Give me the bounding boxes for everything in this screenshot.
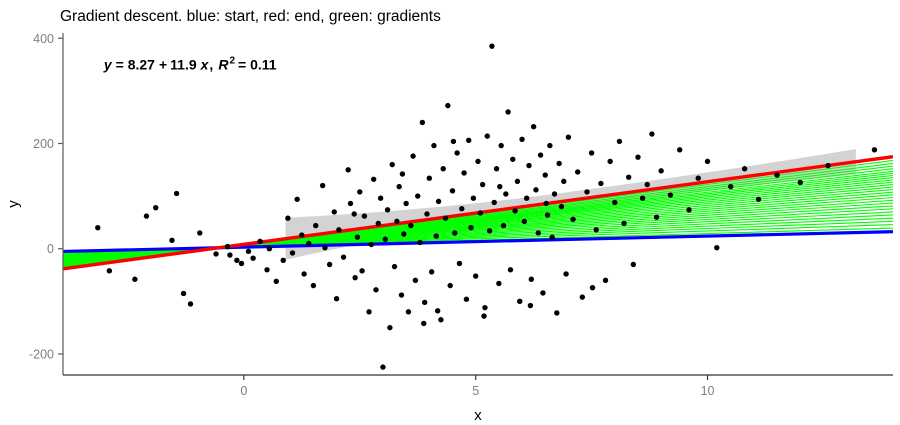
scatter-point: [239, 261, 244, 266]
scatter-point: [394, 219, 399, 224]
scatter-point: [169, 238, 174, 243]
x-tick-label: 0: [240, 384, 247, 398]
scatter-point: [531, 124, 536, 129]
scatter-point: [301, 271, 306, 276]
scatter-point: [554, 310, 559, 315]
scatter-point: [406, 309, 411, 314]
panel-content: [63, 43, 893, 369]
y-tick-label: 0: [47, 242, 54, 256]
scatter-point: [387, 325, 392, 330]
scatter-point: [348, 201, 353, 206]
scatter-point: [468, 225, 473, 230]
scatter-point: [556, 161, 561, 166]
gradient-descent-chart: -20002004000510Gradient descent. blue: s…: [0, 0, 900, 425]
scatter-point: [311, 283, 316, 288]
scatter-point: [798, 180, 803, 185]
scatter-point: [267, 246, 272, 251]
scatter-point: [635, 154, 640, 159]
scatter-point: [294, 197, 299, 202]
scatter-point: [392, 264, 397, 269]
scatter-point: [399, 292, 404, 297]
scatter-point: [528, 303, 533, 308]
scatter-point: [668, 192, 673, 197]
scatter-point: [445, 103, 450, 108]
scatter-point: [515, 179, 520, 184]
scatter-point: [401, 231, 406, 236]
scatter-point: [336, 227, 341, 232]
scatter-point: [153, 205, 158, 210]
scatter-point: [359, 268, 364, 273]
scatter-point: [640, 196, 645, 201]
scatter-point: [385, 207, 390, 212]
scatter-point: [299, 232, 304, 237]
scatter-point: [526, 163, 531, 168]
scatter-point: [686, 207, 691, 212]
chart-title: Gradient descent. blue: start, red: end,…: [60, 8, 441, 25]
scatter-point: [607, 159, 612, 164]
scatter-point: [475, 159, 480, 164]
scatter-point: [320, 183, 325, 188]
scatter-point: [501, 223, 506, 228]
scatter-point: [144, 213, 149, 218]
x-tick-label: 10: [701, 384, 715, 398]
scatter-point: [540, 290, 545, 295]
scatter-point: [424, 211, 429, 216]
scatter-point: [421, 321, 426, 326]
scatter-point: [351, 211, 356, 216]
scatter-point: [257, 239, 262, 244]
scatter-point: [494, 166, 499, 171]
scatter-point: [774, 172, 779, 177]
scatter-point: [459, 206, 464, 211]
scatter-point: [612, 200, 617, 205]
y-axis-title: y: [5, 200, 22, 208]
scatter-point: [357, 189, 362, 194]
scatter-point: [464, 297, 469, 302]
scatter-point: [543, 201, 548, 206]
scatter-point: [313, 223, 318, 228]
scatter-point: [529, 277, 534, 282]
scatter-point: [649, 131, 654, 136]
scatter-point: [512, 208, 517, 213]
scatter-point: [334, 296, 339, 301]
scatter-point: [181, 291, 186, 296]
scatter-point: [371, 177, 376, 182]
scatter-point: [519, 137, 524, 142]
scatter-point: [327, 262, 332, 267]
scatter-point: [427, 176, 432, 181]
scatter-point: [352, 275, 357, 280]
scatter-point: [443, 216, 448, 221]
scatter-point: [566, 134, 571, 139]
y-tick-label: 200: [33, 137, 54, 151]
scatter-point: [454, 150, 459, 155]
scatter-point: [410, 153, 415, 158]
scatter-point: [441, 166, 446, 171]
scatter-point: [234, 258, 239, 263]
scatter-point: [471, 196, 476, 201]
scatter-point: [705, 159, 710, 164]
scatter-point: [378, 196, 383, 201]
scatter-point: [396, 184, 401, 189]
scatter-point: [362, 213, 367, 218]
scatter-point: [563, 271, 568, 276]
scatter-point: [561, 179, 566, 184]
scatter-point: [380, 364, 385, 369]
scatter-point: [413, 278, 418, 283]
scatter-point: [590, 285, 595, 290]
scatter-point: [496, 281, 501, 286]
scatter-point: [188, 301, 193, 306]
scatter-point: [400, 171, 405, 176]
scatter-point: [728, 184, 733, 189]
scatter-point: [547, 143, 552, 148]
scatter-point: [417, 240, 422, 245]
chart-canvas: -20002004000510Gradient descent. blue: s…: [0, 0, 900, 425]
scatter-point: [274, 279, 279, 284]
scatter-point: [450, 188, 455, 193]
scatter-point: [480, 182, 485, 187]
scatter-point: [498, 143, 503, 148]
scatter-point: [549, 234, 554, 239]
scatter-point: [658, 168, 663, 173]
scatter-point: [250, 255, 255, 260]
scatter-point: [559, 204, 564, 209]
scatter-point: [281, 258, 286, 263]
scatter-point: [422, 300, 427, 305]
scatter-point: [373, 287, 378, 292]
scatter-point: [489, 43, 494, 48]
scatter-point: [457, 261, 462, 266]
scatter-point: [508, 267, 513, 272]
scatter-point: [452, 230, 457, 235]
scatter-point: [524, 196, 529, 201]
scatter-point: [598, 181, 603, 186]
scatter-point: [431, 143, 436, 148]
scatter-point: [552, 191, 557, 196]
scatter-point: [594, 227, 599, 232]
x-tick-label: 5: [472, 384, 479, 398]
scatter-point: [355, 234, 360, 239]
scatter-point: [631, 262, 636, 267]
scatter-point: [621, 221, 626, 226]
scatter-point: [447, 283, 452, 288]
y-tick-label: 400: [33, 32, 54, 46]
scatter-point: [617, 139, 622, 144]
scatter-point: [482, 305, 487, 310]
scatter-point: [434, 233, 439, 238]
scatter-point: [589, 150, 594, 155]
scatter-point: [415, 193, 420, 198]
scatter-point: [505, 109, 510, 114]
scatter-point: [545, 212, 550, 217]
scatter-point: [503, 191, 508, 196]
scatter-point: [438, 317, 443, 322]
scatter-point: [677, 147, 682, 152]
scatter-point: [570, 217, 575, 222]
plot-area: -20002004000510: [29, 32, 893, 398]
scatter-point: [341, 254, 346, 259]
scatter-point: [197, 230, 202, 235]
scatter-point: [435, 308, 440, 313]
scatter-point: [225, 244, 230, 249]
scatter-point: [492, 200, 497, 205]
scatter-point: [345, 167, 350, 172]
scatter-point: [264, 267, 269, 272]
scatter-point: [466, 138, 471, 143]
scatter-point: [696, 176, 701, 181]
y-tick-label: -200: [29, 347, 54, 361]
scatter-point: [290, 250, 295, 255]
scatter-point: [383, 237, 388, 242]
scatter-point: [369, 242, 374, 247]
scatter-point: [645, 182, 650, 187]
scatter-point: [366, 309, 371, 314]
scatter-point: [575, 169, 580, 174]
x-axis-title: x: [474, 407, 482, 424]
scatter-point: [429, 269, 434, 274]
scatter-point: [742, 166, 747, 171]
scatter-point: [481, 313, 486, 318]
scatter-point: [436, 199, 441, 204]
scatter-point: [584, 189, 589, 194]
scatter-point: [522, 219, 527, 224]
scatter-point: [714, 245, 719, 250]
scatter-point: [95, 225, 100, 230]
scatter-point: [497, 184, 502, 189]
scatter-point: [510, 157, 515, 162]
scatter-point: [487, 228, 492, 233]
scatter-point: [451, 139, 456, 144]
scatter-point: [536, 230, 541, 235]
scatter-point: [408, 223, 413, 228]
scatter-point: [533, 187, 538, 192]
scatter-point: [174, 191, 179, 196]
scatter-point: [603, 278, 608, 283]
scatter-point: [825, 163, 830, 168]
scatter-point: [227, 252, 232, 257]
scatter-point: [376, 221, 381, 226]
scatter-point: [390, 162, 395, 167]
scatter-point: [403, 201, 408, 206]
scatter-point: [473, 273, 478, 278]
scatter-point: [322, 245, 327, 250]
scatter-point: [538, 152, 543, 157]
scatter-point: [246, 249, 251, 254]
scatter-point: [213, 251, 218, 256]
scatter-point: [332, 209, 337, 214]
scatter-point: [306, 241, 311, 246]
scatter-point: [626, 174, 631, 179]
scatter-point: [654, 214, 659, 219]
scatter-point: [485, 133, 490, 138]
scatter-point: [580, 294, 585, 299]
scatter-point: [285, 216, 290, 221]
scatter-point: [517, 299, 522, 304]
scatter-point: [478, 210, 483, 215]
scatter-point: [132, 277, 137, 282]
scatter-point: [872, 147, 877, 152]
scatter-point: [756, 197, 761, 202]
regression-equation: y= 8.27+11.9x,R2= 0.11: [103, 56, 277, 73]
scatter-point: [107, 268, 112, 273]
scatter-point: [461, 170, 466, 175]
scatter-point: [420, 120, 425, 125]
scatter-point: [543, 172, 548, 177]
